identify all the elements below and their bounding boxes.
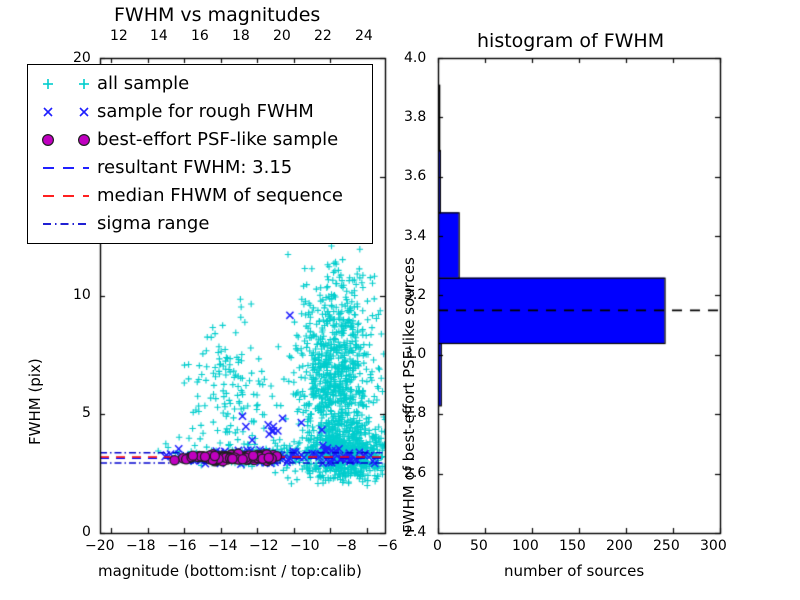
right-ytick-2-6: 2.6 [404, 465, 426, 481]
left-xtick-2: −16 [167, 538, 197, 554]
left-ytick-0: 0 [82, 524, 91, 540]
legend-label-resultant-fwhm: resultant FWHM: 3.15 [97, 158, 292, 178]
legend-item-resultant-fwhm: resultant FWHM: 3.15 [35, 154, 365, 182]
right-ytick-3-6: 3.6 [404, 168, 426, 184]
left-top-xtick-3: 18 [232, 28, 250, 44]
right-ytick-3-8: 3.8 [404, 109, 426, 125]
left-top-xtick-5: 22 [314, 28, 332, 44]
left-ytick-10: 10 [73, 287, 91, 303]
right-xtick-0: 0 [433, 538, 442, 554]
left-xtick-4: −12 [249, 538, 279, 554]
circle-marker-icon [35, 127, 97, 153]
left-top-xtick-6: 24 [355, 28, 373, 44]
legend-item-sigma-range: sigma range [35, 210, 365, 238]
left-top-xtick-2: 16 [191, 28, 209, 44]
dashed-blue-line-icon [35, 155, 97, 181]
left-top-xtick-0: 12 [110, 28, 128, 44]
right-ytick-2-8: 2.8 [404, 405, 426, 421]
legend-label-rough-fwhm: sample for rough FWHM [97, 102, 314, 122]
right-ytick-3-0: 3.0 [404, 346, 426, 362]
left-ytick-5: 5 [82, 405, 91, 421]
legend-item-all-sample: all sample [35, 70, 365, 98]
left-top-xtick-4: 20 [273, 28, 291, 44]
legend-item-rough-fwhm: sample for rough FWHM [35, 98, 365, 126]
legend-item-psf-like: best-effort PSF-like sample [35, 126, 365, 154]
legend-label-all-sample: all sample [97, 74, 189, 94]
right-xtick-300: 300 [700, 538, 727, 554]
right-xtick-100: 100 [512, 538, 539, 554]
right-ytick-4-0: 4.0 [404, 50, 426, 66]
cross-marker-icon [35, 99, 97, 125]
legend-item-median-fhwm: median FHWM of sequence [35, 182, 365, 210]
right-panel-title: histogram of FWHM [477, 30, 664, 52]
left-xtick-7: −6 [377, 538, 398, 554]
right-panel-xlabel: number of sources [504, 562, 644, 580]
left-panel-title: FWHM vs magnitudes [114, 4, 320, 26]
legend-label-median-fhwm: median FHWM of sequence [97, 186, 343, 206]
right-xtick-50: 50 [470, 538, 488, 554]
legend-box: all sample sample for rough FWHM [27, 64, 373, 244]
right-ytick-3-4: 3.4 [404, 228, 426, 244]
left-xtick-3: −14 [208, 538, 238, 554]
right-xtick-250: 250 [653, 538, 680, 554]
left-panel-ylabel: FWHM (pix) [26, 358, 44, 445]
right-xtick-150: 150 [559, 538, 586, 554]
left-panel-xlabel: magnitude (bottom:isnt / top:calib) [98, 562, 362, 580]
legend-label-sigma-range: sigma range [97, 214, 209, 234]
left-xtick-1: −18 [126, 538, 156, 554]
right-ytick-2-4: 2.4 [404, 524, 426, 540]
dashdot-blue-line-icon [35, 211, 97, 237]
left-xtick-6: −8 [336, 538, 357, 554]
right-xtick-200: 200 [606, 538, 633, 554]
left-top-xtick-1: 14 [150, 28, 168, 44]
dashed-red-line-icon [35, 183, 97, 209]
left-xtick-5: −10 [290, 538, 320, 554]
legend-label-psf-like: best-effort PSF-like sample [97, 130, 338, 150]
left-xtick-0: −20 [85, 538, 115, 554]
figure-root: FWHM vs magnitudes magnitude (bottom:isn… [0, 0, 800, 600]
right-ytick-3-2: 3.2 [404, 287, 426, 303]
plus-marker-icon [35, 71, 97, 97]
